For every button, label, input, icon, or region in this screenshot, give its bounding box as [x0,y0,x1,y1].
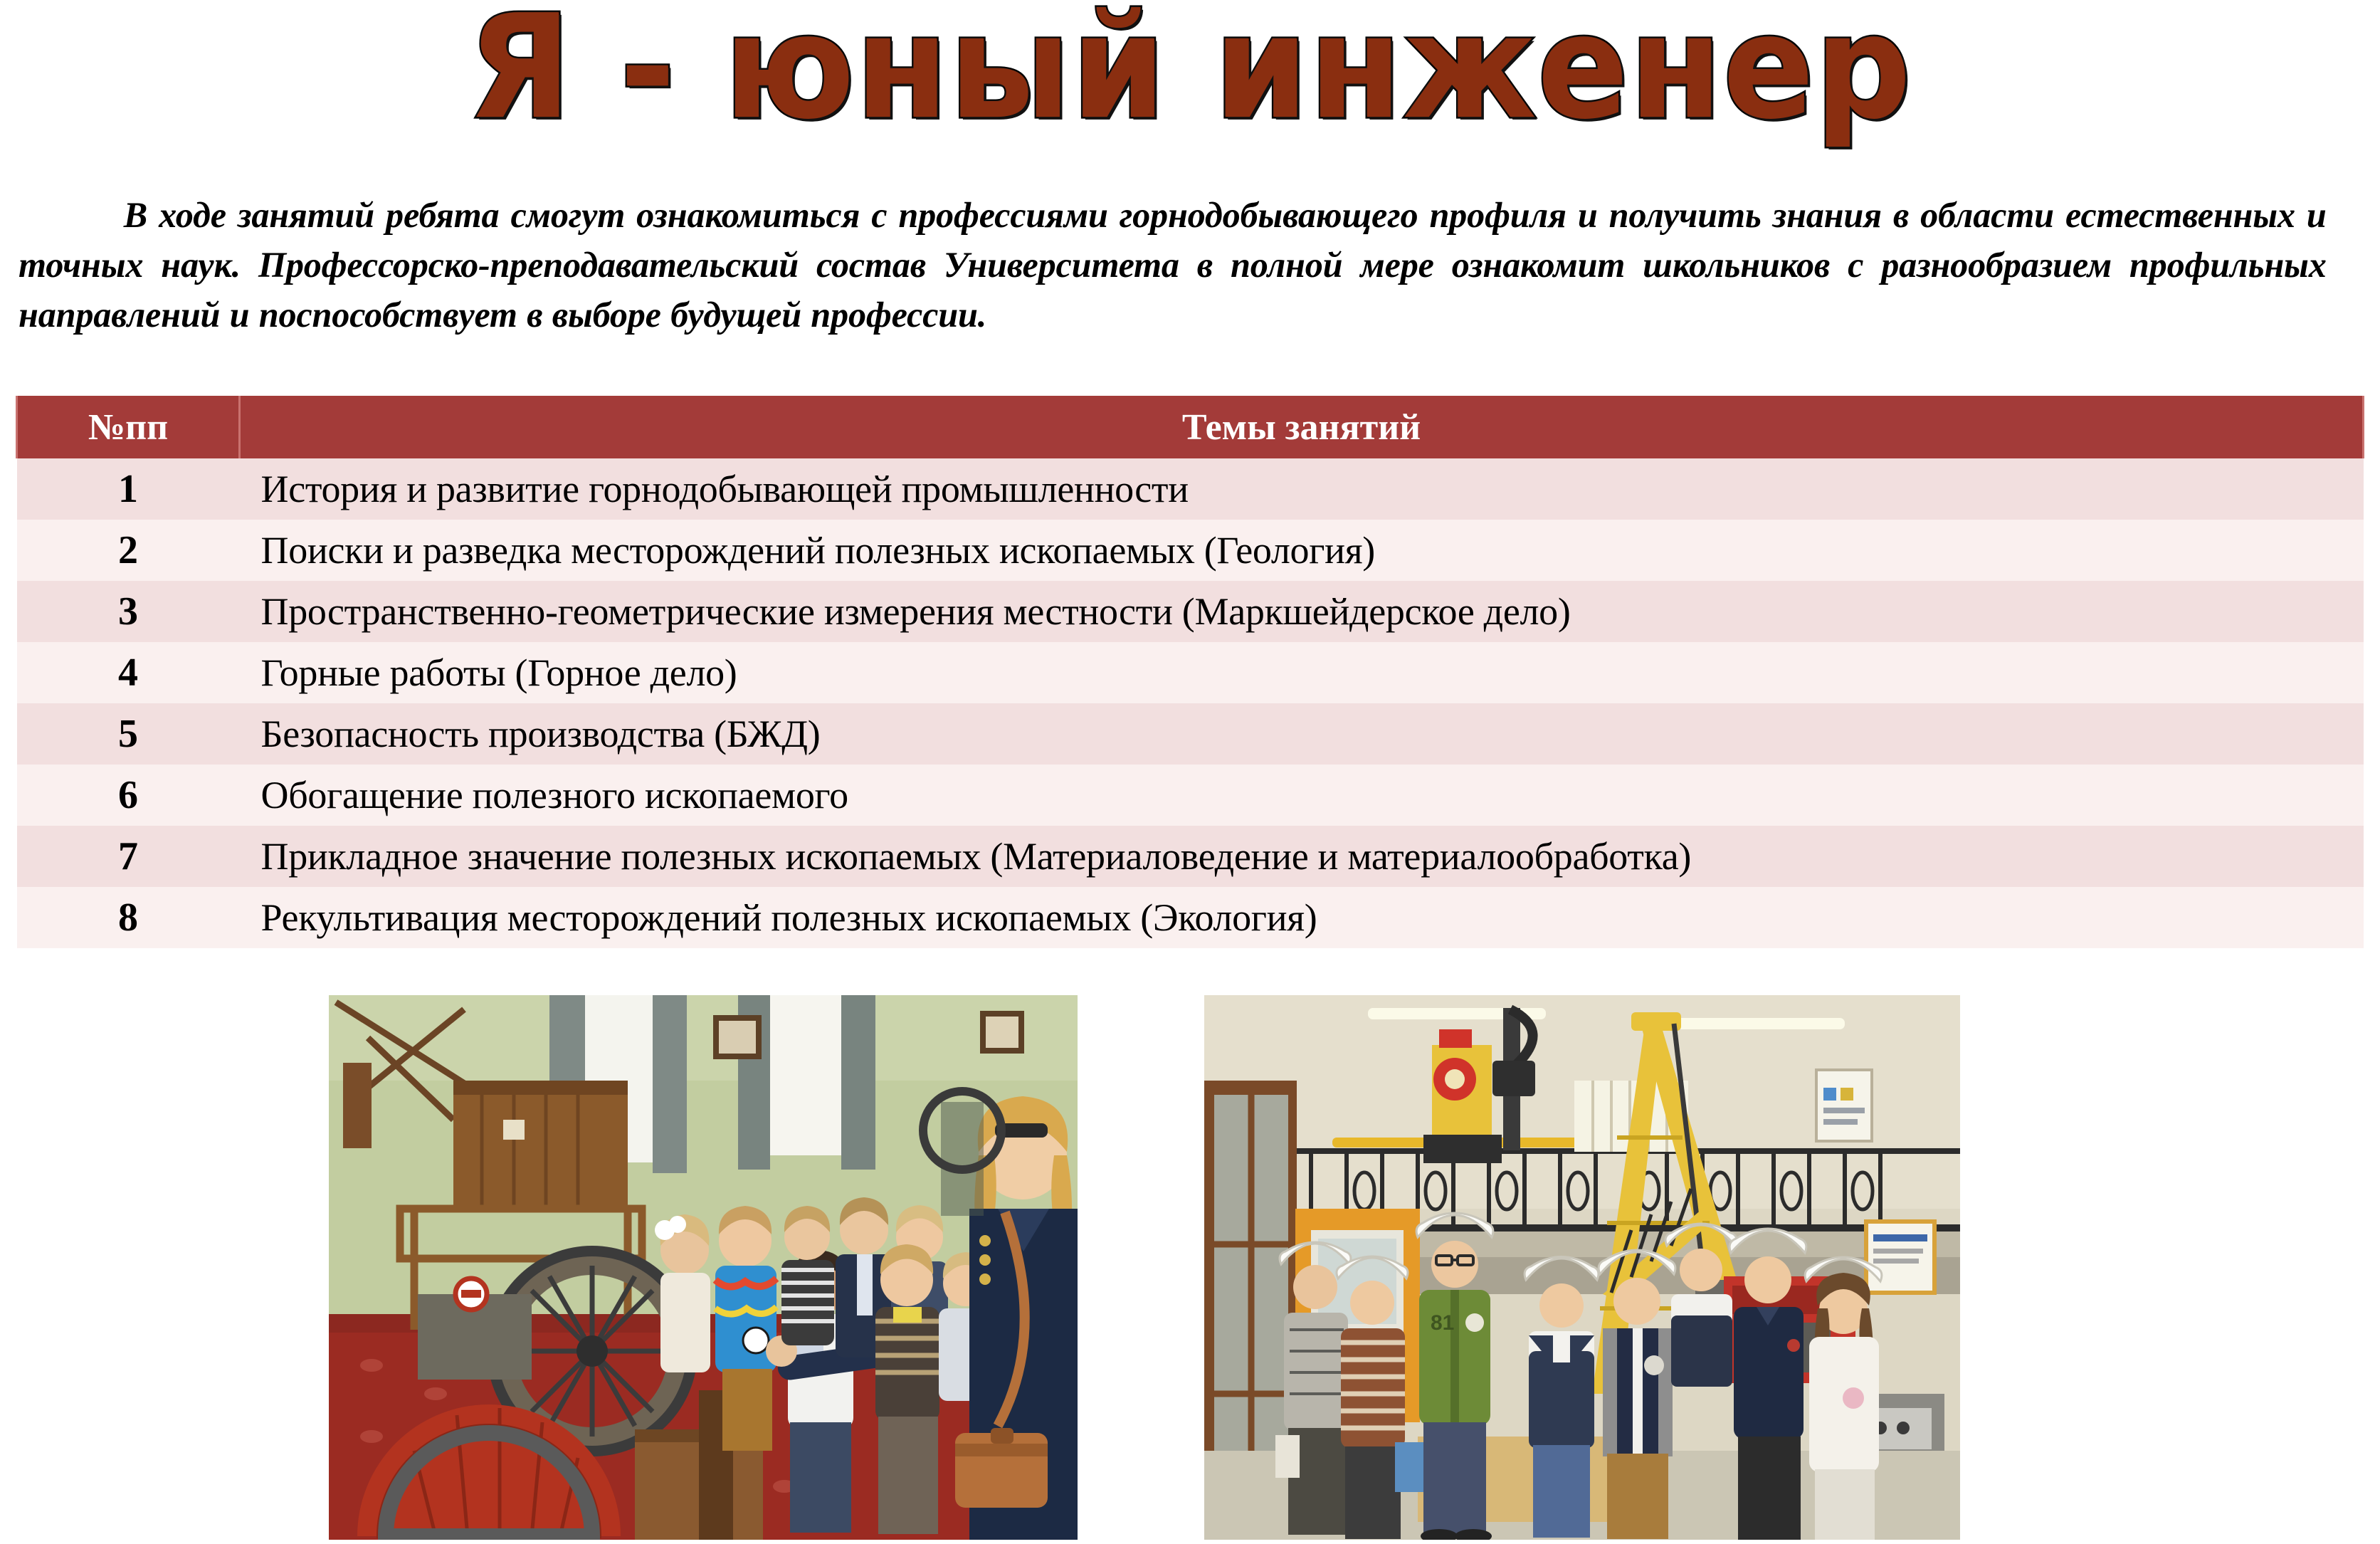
column-header-topic: Темы занятий [240,396,2364,458]
row-topic: Пространственно-геометрические измерения… [240,581,2364,642]
table-row: 6 Обогащение полезного ископаемого [17,765,2364,826]
row-number: 1 [17,458,240,520]
intro-paragraph: В ходе занятий ребята смогут ознакомитьс… [19,191,2327,340]
row-number: 5 [17,703,240,765]
table-row: 5 Безопасность производства (БЖД) [17,703,2364,765]
row-topic: Рекультивация месторождений полезных иск… [240,887,2364,948]
table-row: 4 Горные работы (Горное дело) [17,642,2364,703]
drilling-lab-photo: 81 [1204,995,1960,1540]
row-number: 8 [17,887,240,948]
svg-text:81: 81 [1431,1311,1454,1335]
table-row: 1 История и развитие горнодобывающей про… [17,458,2364,520]
table-header-row: №пп Темы занятий [17,396,2364,458]
table-head: №пп Темы занятий [17,396,2364,458]
row-number: 4 [17,642,240,703]
row-topic: История и развитие горнодобывающей промы… [240,458,2364,520]
table-body: 1 История и развитие горнодобывающей про… [17,458,2364,948]
row-topic: Горные работы (Горное дело) [240,642,2364,703]
title-banner: Я - юный инженер [0,0,2380,138]
row-topic: Обогащение полезного ископаемого [240,765,2364,826]
drilling-lab-illustration: 81 [1204,995,1960,1540]
table-row: 3 Пространственно-геометрические измерен… [17,581,2364,642]
row-number: 3 [17,581,240,642]
museum-tour-illustration [329,995,1078,1540]
page-title: Я - юный инженер [468,0,1912,140]
row-number: 7 [17,826,240,887]
row-number: 6 [17,765,240,826]
museum-tour-photo [329,995,1078,1540]
table-row: 7 Прикладное значение полезных ископаемы… [17,826,2364,887]
row-topic: Прикладное значение полезных ископаемых … [240,826,2364,887]
column-header-number: №пп [17,396,240,458]
row-number: 2 [17,520,240,581]
table-row: 2 Поиски и разведка месторождений полезн… [17,520,2364,581]
row-topic: Поиски и разведка месторождений полезных… [240,520,2364,581]
table-row: 8 Рекультивация месторождений полезных и… [17,887,2364,948]
lessons-table: №пп Темы занятий 1 История и развитие го… [16,396,2364,948]
row-topic: Безопасность производства (БЖД) [240,703,2364,765]
